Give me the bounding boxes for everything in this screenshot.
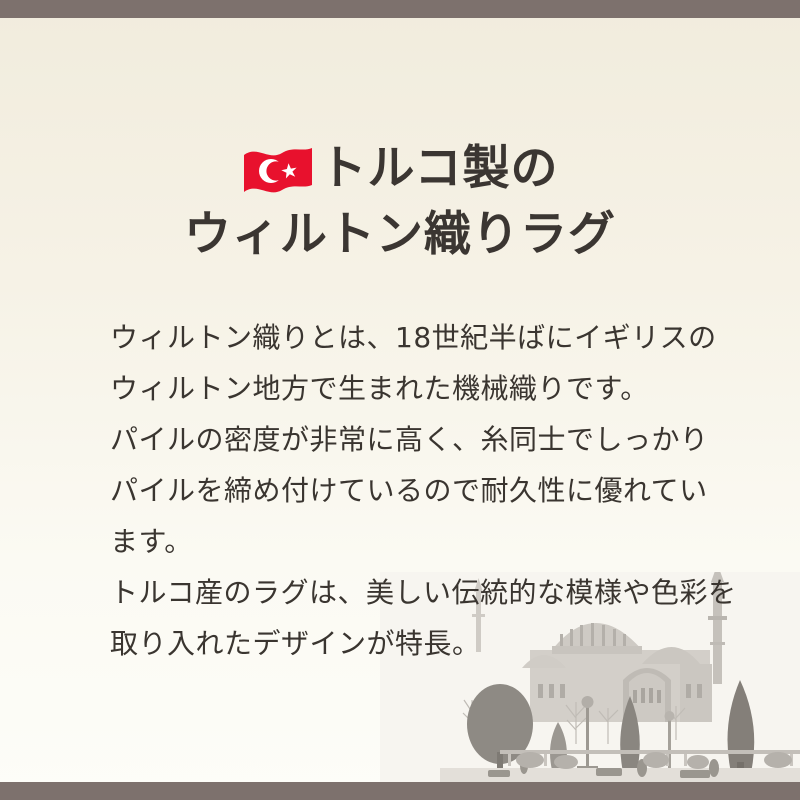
page-title: トルコ製の ウィルトン織りラグ — [0, 136, 800, 268]
description-text: ウィルトン織りとは、18世紀半ばにイギリスの ウィルトン地方で生まれた機械織りで… — [110, 312, 730, 669]
description-line: ます。 — [110, 516, 730, 567]
description-line: パイルの密度が非常に高く、糸同士でしっかり — [110, 414, 730, 465]
title-line-2: ウィルトン織りラグ — [0, 202, 800, 268]
bottom-rule — [0, 782, 800, 800]
description-line: 取り入れたデザインが特長。 — [110, 618, 730, 669]
title-line-1-text: トルコ製の — [319, 136, 558, 202]
description-line: ウィルトン織りとは、18世紀半ばにイギリスの — [110, 312, 730, 363]
title-line-1: トルコ製の — [0, 136, 800, 202]
promo-page: トルコ製の ウィルトン織りラグ ウィルトン織りとは、18世紀半ばにイギリスの ウ… — [0, 0, 800, 800]
turkish-flag-icon — [241, 143, 315, 199]
description-line: トルコ産のラグは、美しい伝統的な模様や色彩を — [110, 567, 730, 618]
top-rule — [0, 0, 800, 18]
description-line: パイルを締め付けているので耐久性に優れてい — [110, 465, 730, 516]
description-line: ウィルトン地方で生まれた機械織りです。 — [110, 363, 730, 414]
